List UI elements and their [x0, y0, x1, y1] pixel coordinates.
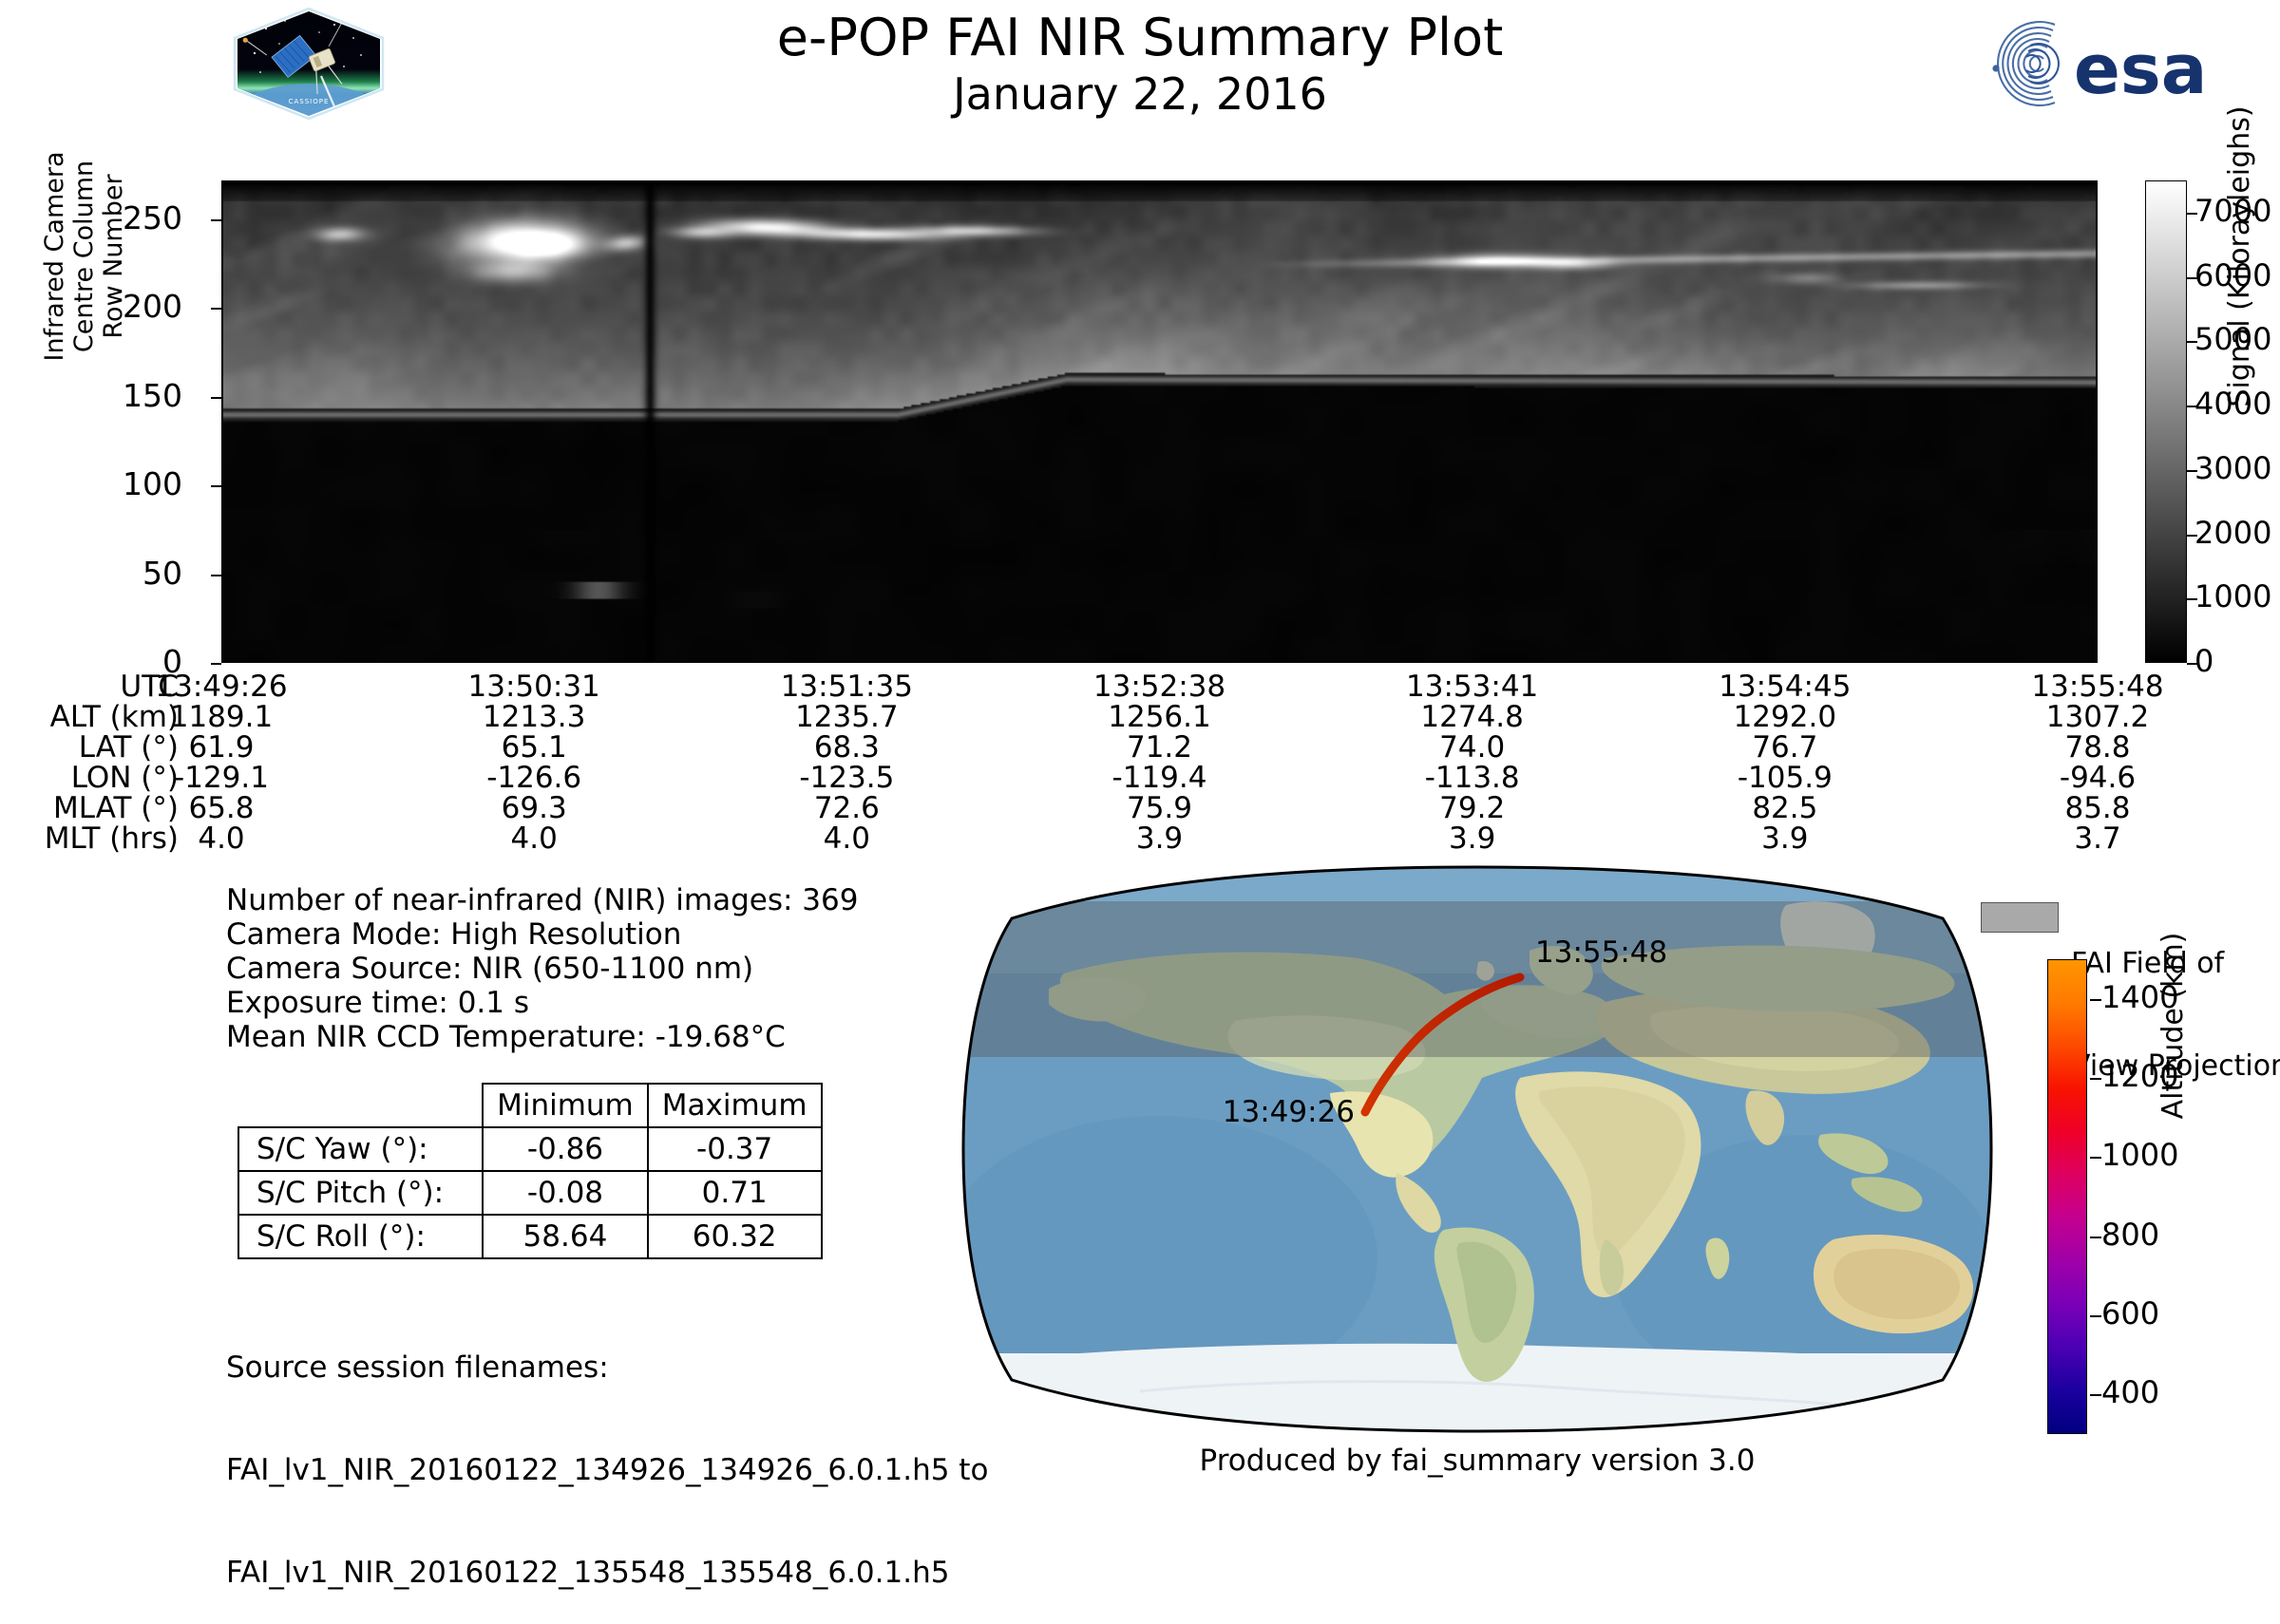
attitude-row-label: S/C Roll (°):	[238, 1215, 483, 1258]
attitude-table-row: S/C Roll (°):58.6460.32	[238, 1215, 822, 1258]
acquisition-info-line: Mean NIR CCD Temperature: -19.68°C	[226, 1020, 858, 1054]
altitude-colorbar-tick-label: 600	[2101, 1295, 2159, 1331]
signal-colorbar-tick-label: 2000	[2194, 515, 2271, 551]
spacecraft-attitude-table: MinimumMaximumS/C Yaw (°):-0.86-0.37S/C …	[237, 1083, 823, 1259]
attitude-max-value: 0.71	[648, 1171, 822, 1215]
ylabel-line-3: Row Number	[99, 19, 128, 494]
attitude-row-label: S/C Pitch (°):	[238, 1171, 483, 1215]
world-map-orbit-track: 13:55:48 13:49:26	[950, 859, 2004, 1439]
ylabel-line-2: Centre Column	[69, 19, 99, 494]
attitude-header-row: MinimumMaximum	[238, 1084, 822, 1127]
ephemeris-cell: 1274.8	[1363, 700, 1582, 734]
ephemeris-cell: 74.0	[1363, 730, 1582, 765]
source-filenames-block: Source session filenames: FAI_lv1_NIR_20…	[226, 1282, 988, 1624]
track-start-time-label: 13:49:26	[1223, 1095, 1355, 1129]
keogram-ytick-mark	[211, 308, 221, 310]
ephemeris-cell: 1307.2	[1988, 700, 2207, 734]
ephemeris-cell: 3.9	[1676, 821, 1894, 856]
ephemeris-cell: -129.1	[112, 761, 331, 795]
ephemeris-cell: -105.9	[1676, 761, 1894, 795]
ephemeris-cell: 4.0	[737, 821, 956, 856]
filenames-heading: Source session filenames:	[226, 1350, 988, 1385]
keogram-ytick-label: 50	[30, 555, 182, 592]
ephemeris-row: MLAT (°)65.869.372.675.979.282.585.8	[0, 791, 2280, 821]
attitude-column-header: Minimum	[483, 1084, 648, 1127]
altitude-colorbar-tick-label: 800	[2101, 1217, 2159, 1253]
esa-logo: esa	[1971, 17, 2256, 110]
altitude-colorbar-tick-mark	[2090, 999, 2101, 1001]
attitude-max-value: 60.32	[648, 1215, 822, 1258]
acquisition-info-line: Exposure time: 0.1 s	[226, 986, 858, 1020]
ephemeris-cell: 75.9	[1051, 791, 1269, 825]
signal-colorbar-tick-label: 1000	[2194, 578, 2271, 614]
attitude-table-row: S/C Yaw (°):-0.86-0.37	[238, 1127, 822, 1171]
ephemeris-cell: -126.6	[425, 761, 643, 795]
signal-colorbar-tick-mark	[2187, 535, 2197, 537]
altitude-colorbar	[2047, 959, 2087, 1434]
attitude-min-value: 58.64	[483, 1215, 648, 1258]
keogram-ytick-mark	[211, 663, 221, 665]
ephemeris-cell: -119.4	[1051, 761, 1269, 795]
ephemeris-cell: 4.0	[112, 821, 331, 856]
ephemeris-cell: 1292.0	[1676, 700, 1894, 734]
filename-first: FAI_lv1_NIR_20160122_134926_134926_6.0.1…	[226, 1453, 988, 1487]
keogram-image	[223, 182, 2096, 661]
esa-wordmark: esa	[2074, 29, 2207, 109]
signal-colorbar-tick-mark	[2187, 341, 2197, 343]
page-title: e-POP FAI NIR Summary Plot	[0, 8, 2280, 67]
altitude-colorbar-tick-mark	[2090, 1078, 2101, 1080]
keogram-y-axis-label: Infrared Camera Centre Column Row Number	[40, 19, 78, 494]
ephemeris-cell: 1256.1	[1051, 700, 1269, 734]
ephemeris-cell: 13:51:35	[737, 670, 956, 704]
keogram-ytick-mark	[211, 397, 221, 399]
attitude-table-row: S/C Pitch (°):-0.080.71	[238, 1171, 822, 1215]
ephemeris-cell: 79.2	[1363, 791, 1582, 825]
footer-credit: Produced by fai_summary version 3.0	[950, 1444, 2004, 1478]
ephemeris-cell: 13:50:31	[425, 670, 643, 704]
ephemeris-row: UTC13:49:2613:50:3113:51:3513:52:3813:53…	[0, 670, 2280, 700]
ephemeris-cell: 13:49:26	[112, 670, 331, 704]
signal-colorbar-tick-mark	[2187, 277, 2197, 279]
ephemeris-cell: 13:52:38	[1051, 670, 1269, 704]
signal-colorbar-tick-mark	[2187, 213, 2197, 215]
signal-colorbar-tick-mark	[2187, 663, 2197, 665]
acquisition-info-line: Number of near-infrared (NIR) images: 36…	[226, 883, 858, 917]
altitude-colorbar-tick-mark	[2090, 1157, 2101, 1159]
ephemeris-cell: 1235.7	[737, 700, 956, 734]
attitude-max-value: -0.37	[648, 1127, 822, 1171]
signal-colorbar-tick-mark	[2187, 406, 2197, 407]
ephemeris-cell: 68.3	[737, 730, 956, 765]
signal-colorbar-tick-mark	[2187, 470, 2197, 472]
keogram-ytick-mark	[211, 219, 221, 221]
track-end-time-label: 13:55:48	[1535, 935, 1667, 970]
filename-last: FAI_lv1_NIR_20160122_135548_135548_6.0.1…	[226, 1556, 988, 1590]
page-subtitle-date: January 22, 2016	[0, 68, 2280, 120]
ephemeris-cell: 72.6	[737, 791, 956, 825]
attitude-row-label: S/C Yaw (°):	[238, 1127, 483, 1171]
ephemeris-cell: 13:53:41	[1363, 670, 1582, 704]
altitude-colorbar-tick-mark	[2090, 1394, 2101, 1396]
signal-colorbar-tick-mark	[2187, 598, 2197, 600]
ephemeris-cell: 76.7	[1676, 730, 1894, 765]
ephemeris-cell: 1189.1	[112, 700, 331, 734]
attitude-min-value: -0.86	[483, 1127, 648, 1171]
signal-colorbar	[2145, 180, 2187, 663]
keogram-ytick-label: 100	[30, 465, 182, 502]
ylabel-line-1: Infrared Camera	[40, 19, 69, 494]
altitude-colorbar-label: Altitude (km)	[2156, 817, 2194, 1235]
ephemeris-cell: 69.3	[425, 791, 643, 825]
keogram-ytick-label: 200	[30, 288, 182, 325]
altitude-colorbar-tick-mark	[2090, 1315, 2101, 1317]
ephemeris-cell: 65.8	[112, 791, 331, 825]
ephemeris-cell: 82.5	[1676, 791, 1894, 825]
attitude-corner-cell	[238, 1084, 483, 1127]
ephemeris-cell: -113.8	[1363, 761, 1582, 795]
ephemeris-row: ALT (km)1189.11213.31235.71256.11274.812…	[0, 700, 2280, 730]
ephemeris-row: MLT (hrs)4.04.04.03.93.93.93.7	[0, 821, 2280, 852]
altitude-colorbar-tick-label: 400	[2101, 1374, 2159, 1410]
ephemeris-table: UTC13:49:2613:50:3113:51:3513:52:3813:53…	[0, 670, 2280, 852]
keogram-ytick-label: 150	[30, 377, 182, 414]
acquisition-info-block: Number of near-infrared (NIR) images: 36…	[226, 883, 858, 1054]
keogram-ytick-mark	[211, 575, 221, 576]
fai-fov-band	[950, 901, 2004, 1057]
ephemeris-cell: 4.0	[425, 821, 643, 856]
keogram-ytick-mark	[211, 485, 221, 487]
keogram-ytick-label: 250	[30, 199, 182, 236]
ephemeris-cell: 13:55:48	[1988, 670, 2207, 704]
altitude-colorbar-tick-mark	[2090, 1237, 2101, 1238]
ephemeris-row: LON (°)-129.1-126.6-123.5-119.4-113.8-10…	[0, 761, 2280, 791]
ephemeris-cell: 78.8	[1988, 730, 2207, 765]
fov-legend-swatch	[1981, 902, 2059, 933]
ephemeris-cell: 61.9	[112, 730, 331, 765]
ephemeris-cell: -123.5	[737, 761, 956, 795]
acquisition-info-line: Camera Source: NIR (650-1100 nm)	[226, 952, 858, 986]
ephemeris-cell: 1213.3	[425, 700, 643, 734]
ephemeris-cell: 3.9	[1363, 821, 1582, 856]
attitude-min-value: -0.08	[483, 1171, 648, 1215]
acquisition-info-line: Camera Mode: High Resolution	[226, 917, 858, 952]
ephemeris-row: LAT (°)61.965.168.371.274.076.778.8	[0, 730, 2280, 761]
ephemeris-cell: 65.1	[425, 730, 643, 765]
ephemeris-cell: 3.9	[1051, 821, 1269, 856]
keogram-panel	[221, 180, 2098, 663]
ephemeris-cell: 13:54:45	[1676, 670, 1894, 704]
attitude-column-header: Maximum	[648, 1084, 822, 1127]
ephemeris-cell: -94.6	[1988, 761, 2207, 795]
signal-colorbar-label: Signal (Kilorayleighs)	[2223, 19, 2261, 494]
ephemeris-cell: 71.2	[1051, 730, 1269, 765]
